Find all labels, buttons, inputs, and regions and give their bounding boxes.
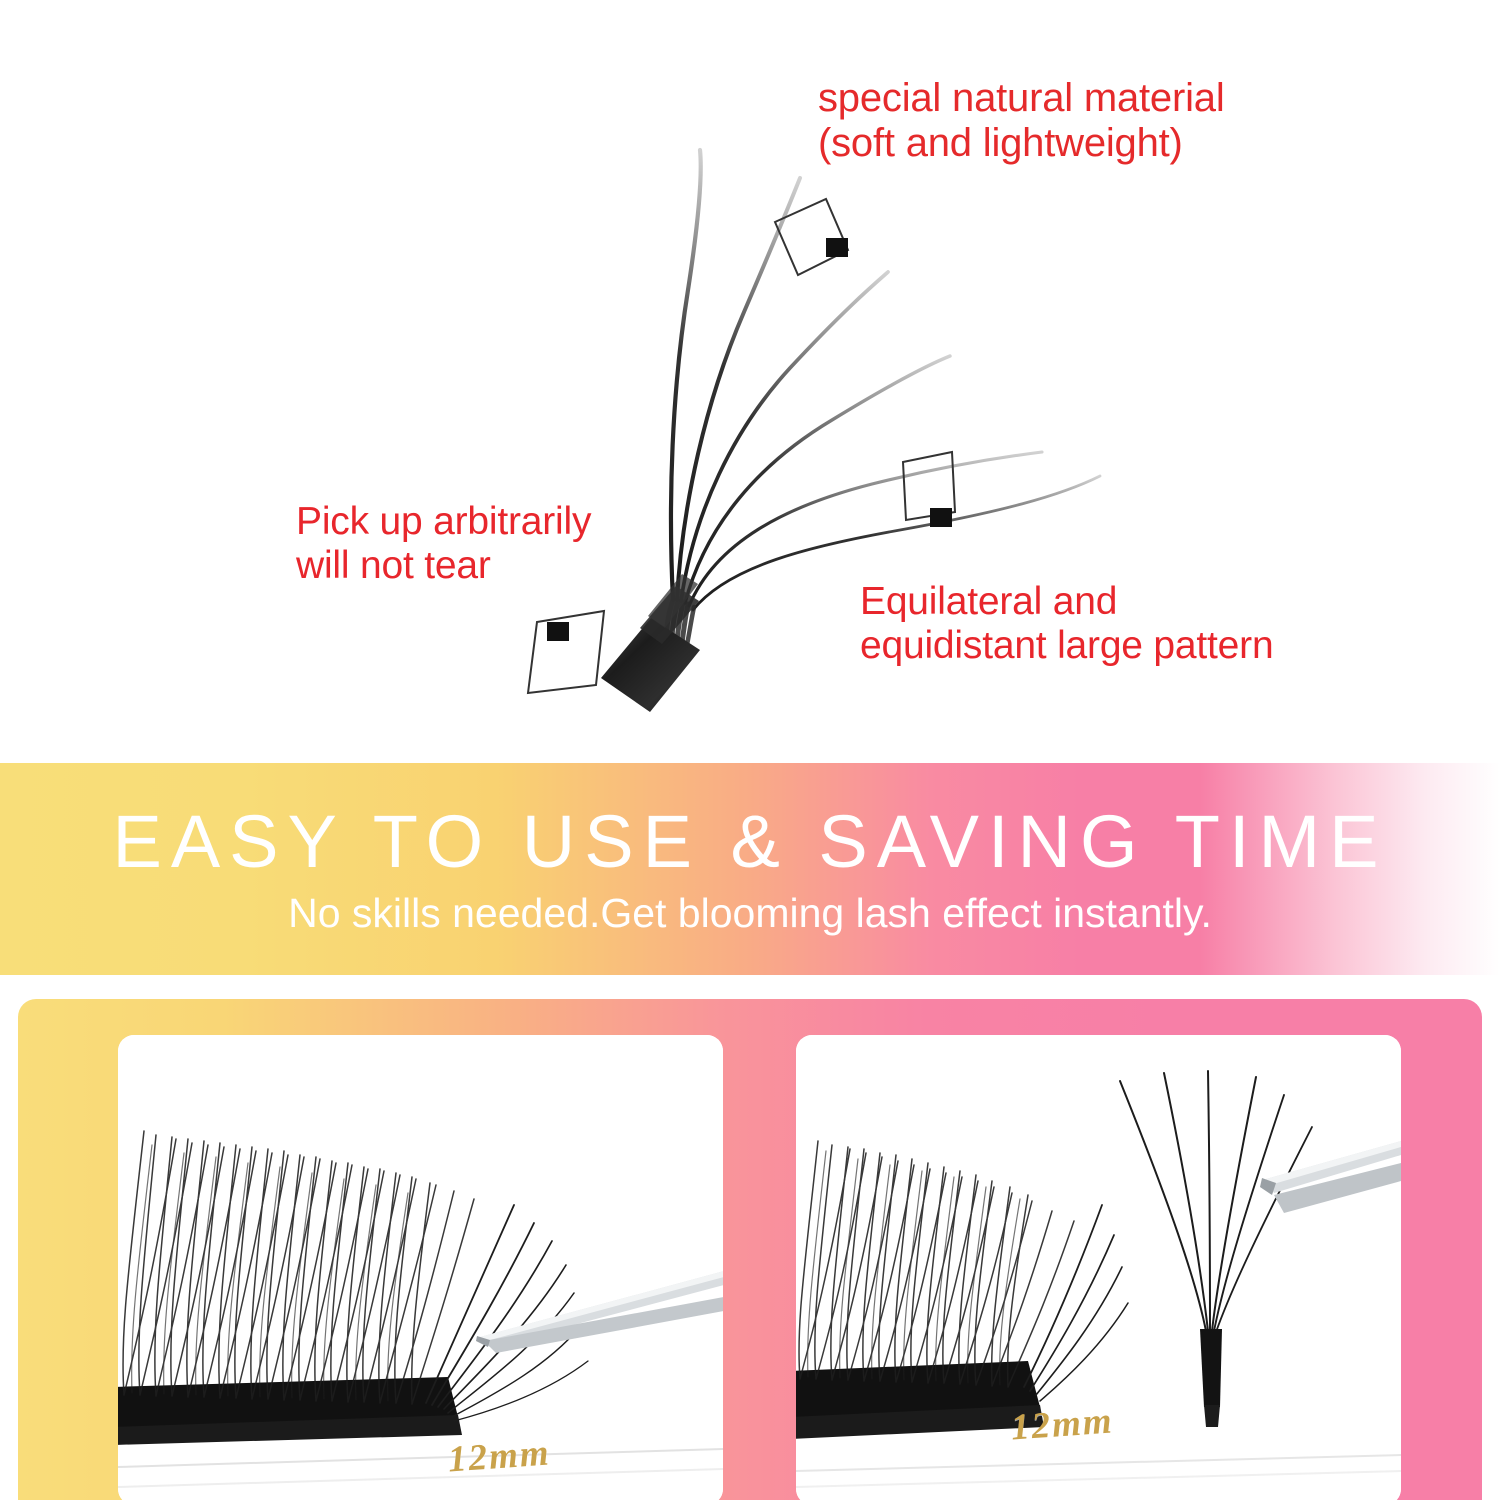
size-label-12mm-right: 12mm	[1010, 1399, 1115, 1449]
marker-square-base	[528, 611, 604, 693]
product-photos-frame: 12mm	[18, 999, 1482, 1500]
feature-banner: EASY TO USE & SAVING TIME No skills need…	[0, 763, 1500, 975]
size-label-12mm-left: 12mm	[447, 1431, 552, 1481]
marker-square-equilateral	[903, 452, 955, 527]
lash-fan-diagram	[0, 0, 1500, 763]
photo-lash-tray-with-tweezers	[118, 1035, 723, 1500]
photo-card-lash-tray: 12mm	[118, 1035, 723, 1500]
lash-base	[601, 574, 700, 712]
callout-equilateral-equidistant: Equilateral and equidistant large patter…	[860, 580, 1273, 667]
hero-section: special natural material (soft and light…	[0, 0, 1500, 763]
callout-special-natural-material: special natural material (soft and light…	[818, 76, 1225, 166]
banner-subtitle: No skills needed.Get blooming lash effec…	[0, 893, 1500, 934]
banner-title: EASY TO USE & SAVING TIME	[0, 805, 1500, 879]
photo-card-lash-fan: 12mm	[796, 1035, 1401, 1500]
lash-strands	[671, 150, 1100, 610]
callout-pick-up-arbitrarily: Pick up arbitrarily will not tear	[296, 500, 591, 587]
